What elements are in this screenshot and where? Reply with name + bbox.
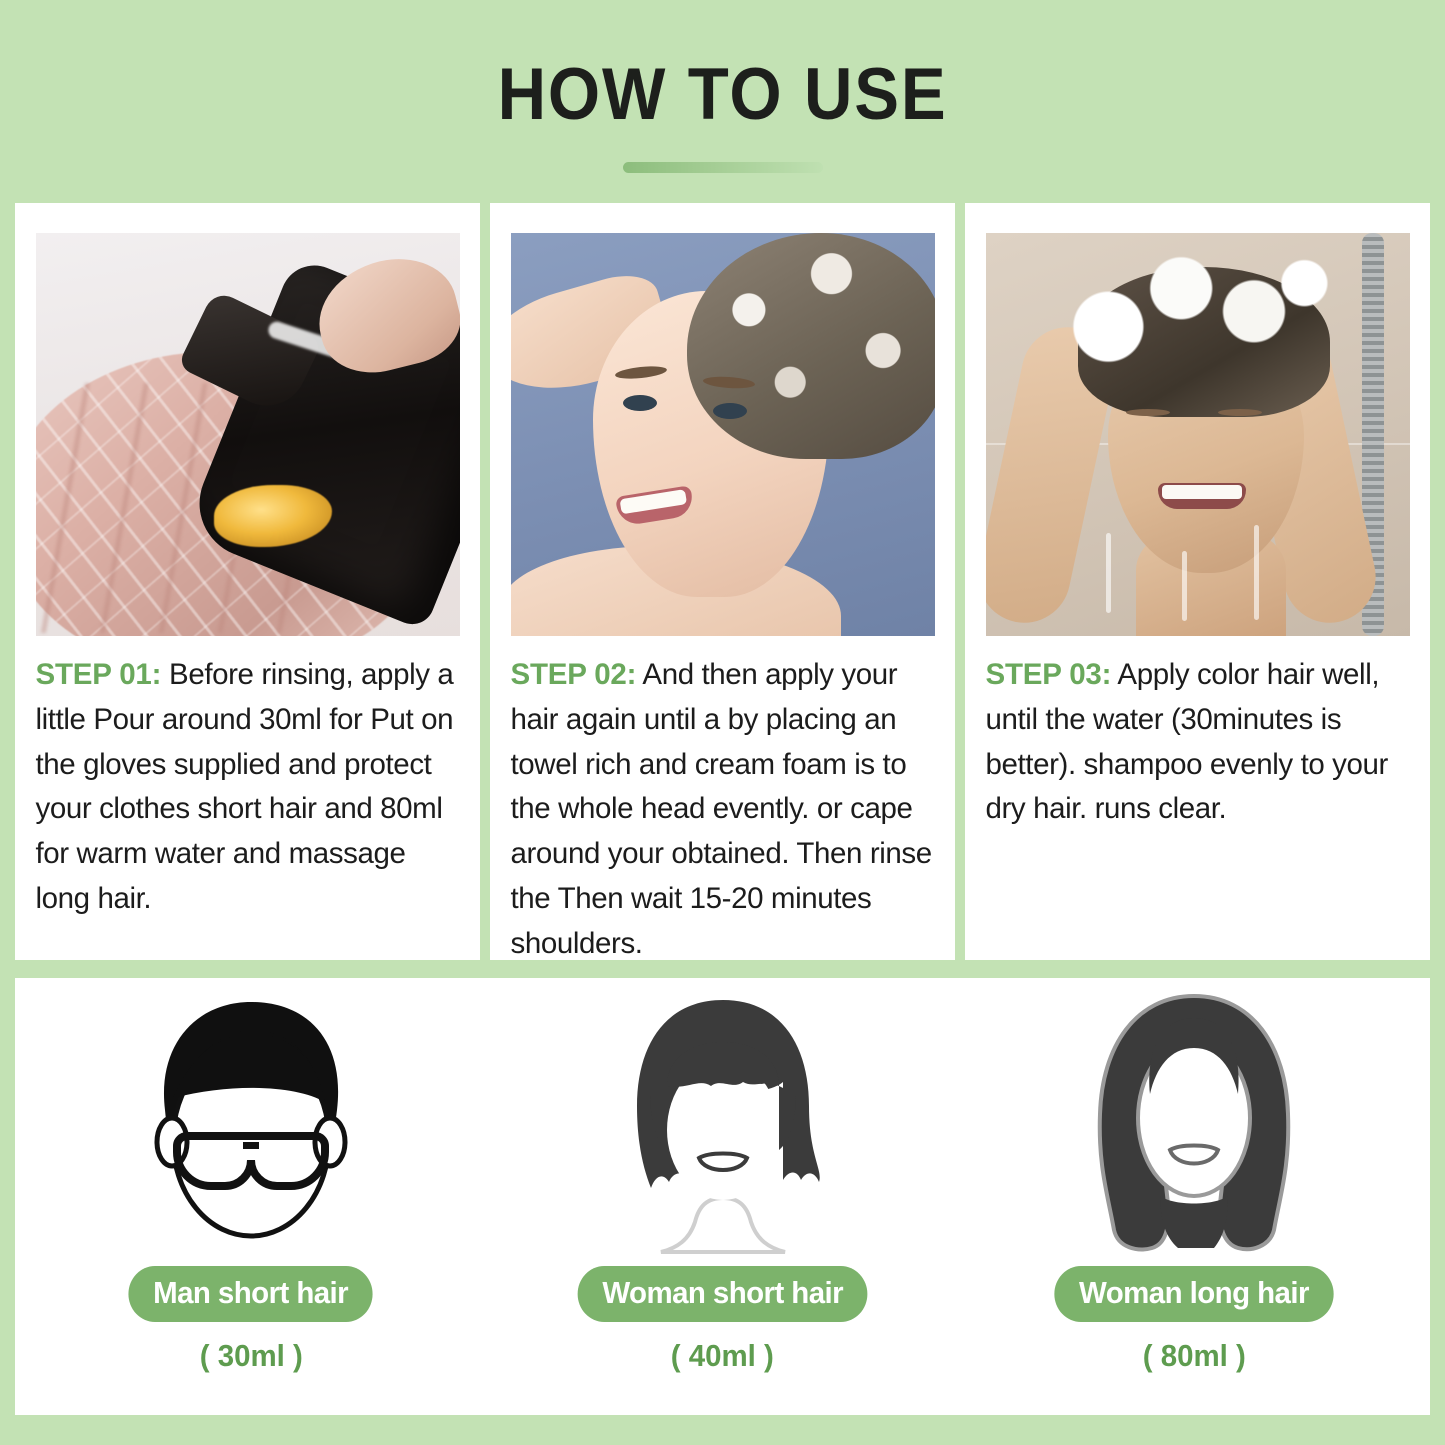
man-short-hair-figure: [131, 990, 371, 1258]
title-divider-bar: [623, 162, 823, 173]
dosage-panel: Man short hair ( 30ml ) Woman short hair…: [15, 978, 1430, 1415]
shampoo-foam-shape: [1058, 255, 1338, 383]
page-title: HOW TO USE: [498, 58, 948, 131]
step-01-description: Before rinsing, apply a little Pour arou…: [36, 658, 454, 915]
step-card-01: STEP 01: Before rinsing, apply a little …: [15, 203, 480, 960]
man-short-hair-icon: [131, 990, 371, 1258]
volume-woman-long-hair: ( 80ml ): [1143, 1338, 1246, 1374]
woman-short-hair-icon: [603, 990, 843, 1258]
pill-woman-long-hair: Woman long hair: [1055, 1266, 1334, 1322]
water-drip: [1254, 525, 1259, 620]
step-02-photo: [511, 233, 935, 636]
eye-right-shape: [713, 403, 747, 419]
step-01-text: STEP 01: Before rinsing, apply a little …: [36, 653, 460, 922]
lathered-hair-shape: [687, 233, 935, 459]
how-to-use-infographic: HOW TO USE STEP 01: Before rinsing, appl…: [0, 0, 1445, 1445]
closed-eye-right-shape: [1218, 409, 1262, 416]
teeth-shape: [1162, 485, 1242, 499]
closed-eye-left-shape: [1126, 409, 1170, 416]
water-drip: [1182, 551, 1187, 621]
step-02-text: STEP 02: And then apply your hair again …: [511, 653, 935, 967]
step-03-photo: [986, 233, 1410, 636]
woman-short-hair-figure: [603, 990, 843, 1258]
pill-woman-short-hair: Woman short hair: [577, 1266, 867, 1322]
dosage-item-man-short-hair: Man short hair ( 30ml ): [15, 978, 487, 1415]
volume-man-short-hair: ( 30ml ): [199, 1338, 302, 1374]
water-drip: [1106, 533, 1111, 613]
step-card-02: STEP 02: And then apply your hair again …: [490, 203, 955, 960]
step-card-03: STEP 03: Apply color hair well, until th…: [965, 203, 1430, 960]
woman-long-hair-icon: [1074, 990, 1314, 1258]
pill-man-short-hair: Man short hair: [129, 1266, 373, 1322]
volume-woman-short-hair: ( 40ml ): [671, 1338, 774, 1374]
smiling-mouth-shape: [1158, 483, 1246, 509]
eye-left-shape: [623, 395, 657, 411]
step-02-description: And then apply your hair again until a b…: [511, 658, 932, 960]
dosage-item-woman-short-hair: Woman short hair ( 40ml ): [487, 978, 959, 1415]
step-01-label: STEP 01:: [36, 658, 162, 691]
step-02-label: STEP 02:: [511, 658, 637, 691]
dosage-item-woman-long-hair: Woman long hair ( 80ml ): [958, 978, 1430, 1415]
steps-row: STEP 01: Before rinsing, apply a little …: [15, 203, 1430, 960]
header: HOW TO USE: [0, 0, 1445, 200]
step-01-photo: [36, 233, 460, 636]
step-03-label: STEP 03:: [986, 658, 1112, 691]
woman-long-hair-figure: [1074, 990, 1314, 1258]
step-03-text: STEP 03: Apply color hair well, until th…: [986, 653, 1410, 832]
